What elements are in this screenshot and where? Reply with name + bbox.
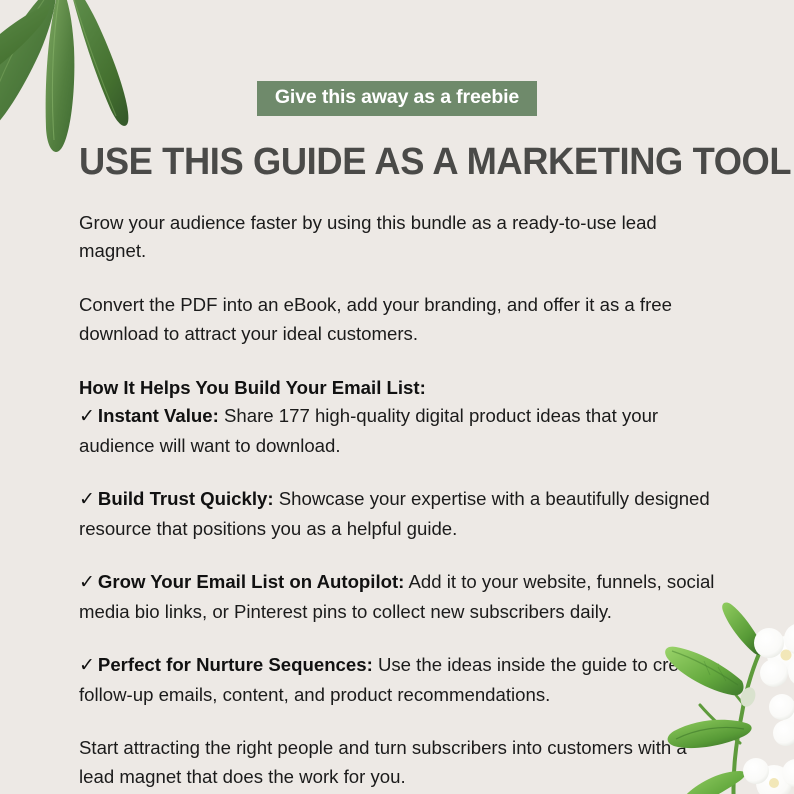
intro-paragraph-2: Convert the PDF into an eBook, add your … — [79, 291, 719, 348]
leaf — [0, 4, 49, 87]
content-column: USE THIS GUIDE AS A MARKETING TOOL Grow … — [79, 143, 719, 791]
check-icon: ✓ — [79, 489, 95, 510]
section-heading: How It Helps You Build Your Email List: — [79, 374, 719, 402]
benefit-label: Grow Your Email List on Autopilot: — [98, 571, 404, 592]
benefit-item: ✓Instant Value: Share 177 high-quality d… — [79, 402, 719, 460]
leaf — [46, 0, 75, 152]
white-flower — [754, 623, 794, 687]
closing-paragraph: Start attracting the right people and tu… — [79, 734, 719, 791]
check-icon: ✓ — [79, 655, 95, 676]
intro-paragraph-1: Grow your audience faster by using this … — [79, 209, 719, 266]
leaf — [0, 0, 56, 136]
poster-canvas: Give this away as a freebie USE THIS GUI… — [0, 0, 794, 794]
benefit-item: ✓Grow Your Email List on Autopilot: Add … — [79, 568, 719, 626]
white-flower — [743, 758, 794, 794]
white-flower — [769, 694, 794, 746]
benefit-label: Perfect for Nurture Sequences: — [98, 654, 373, 675]
leaf — [722, 603, 763, 655]
benefit-item: ✓Perfect for Nurture Sequences: Use the … — [79, 651, 719, 709]
benefit-label: Instant Value: — [98, 405, 219, 426]
olive-leaf-branch-decoration — [0, 0, 194, 157]
check-icon: ✓ — [79, 572, 95, 593]
freebie-badge-row: Give this away as a freebie — [0, 81, 794, 116]
benefit-label: Build Trust Quickly: — [98, 488, 274, 509]
check-icon: ✓ — [79, 406, 95, 427]
flower-bud — [738, 685, 758, 709]
benefit-item: ✓Build Trust Quickly: Showcase your expe… — [79, 485, 719, 543]
freebie-badge: Give this away as a freebie — [257, 81, 537, 116]
page-title: USE THIS GUIDE AS A MARKETING TOOL — [79, 143, 690, 183]
